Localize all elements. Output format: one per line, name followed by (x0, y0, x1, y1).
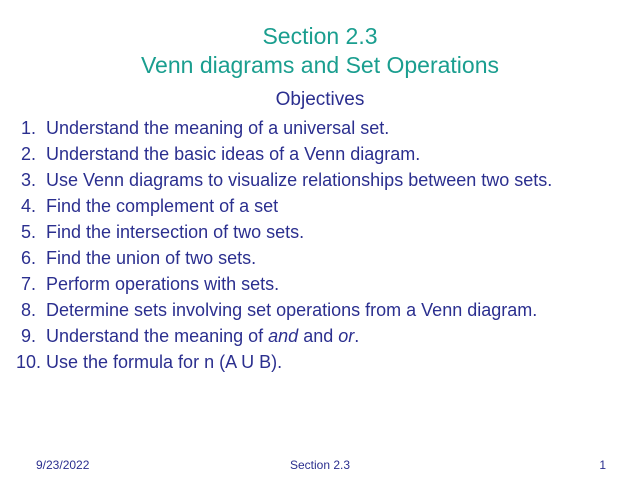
objectives-heading: Objectives (0, 88, 640, 112)
list-item-text: Perform operations with sets. (46, 272, 622, 296)
list-item-number: 9. (16, 324, 46, 348)
list-item: 8. Determine sets involving set operatio… (0, 298, 640, 322)
item9-prefix: Understand the meaning of (46, 326, 268, 346)
list-item: 9. Understand the meaning of and and or. (0, 324, 640, 348)
list-item-text: Find the union of two sets. (46, 246, 622, 270)
list-item-number: 3. (16, 168, 46, 192)
list-item-number: 1. (16, 116, 46, 140)
title-line-1: Section 2.3 (0, 22, 640, 51)
footer-page-number: 1 (599, 458, 606, 472)
list-item-number: 7. (16, 272, 46, 296)
list-item: 6. Find the union of two sets. (0, 246, 640, 270)
list-item-text: Understand the basic ideas of a Venn dia… (46, 142, 622, 166)
list-item: 2. Understand the basic ideas of a Venn … (0, 142, 640, 166)
list-item-number: 4. (16, 194, 46, 218)
list-item-text: Find the complement of a set (46, 194, 622, 218)
list-item-number: 6. (16, 246, 46, 270)
slide-footer: 9/23/2022 Section 2.3 1 (0, 458, 640, 474)
list-item-text: Determine sets involving set operations … (46, 298, 622, 322)
slide-title: Section 2.3 Venn diagrams and Set Operat… (0, 0, 640, 80)
item9-italic-and: and (268, 326, 298, 346)
item9-middle: and (298, 326, 338, 346)
list-item: 3. Use Venn diagrams to visualize relati… (0, 168, 640, 192)
item9-suffix: . (354, 326, 359, 346)
list-item-text: Understand the meaning of a universal se… (46, 116, 622, 140)
list-item-text-italic: Understand the meaning of and and or. (46, 324, 622, 348)
list-item-text: Use Venn diagrams to visualize relations… (46, 168, 622, 192)
list-item-number: 8. (16, 298, 46, 322)
list-item: 10. Use the formula for n (A U B). (0, 350, 640, 374)
list-item-text: Use the formula for n (A U B). (46, 350, 622, 374)
list-item: 4. Find the complement of a set (0, 194, 640, 218)
list-item: 7. Perform operations with sets. (0, 272, 640, 296)
list-item-number: 5. (16, 220, 46, 244)
list-item-number: 10. (16, 350, 46, 374)
slide: Section 2.3 Venn diagrams and Set Operat… (0, 0, 640, 480)
list-item-text: Find the intersection of two sets. (46, 220, 622, 244)
list-item-number: 2. (16, 142, 46, 166)
footer-center-text: Section 2.3 (0, 458, 640, 472)
title-line-2: Venn diagrams and Set Operations (0, 51, 640, 80)
item9-italic-or: or (338, 326, 354, 346)
list-item: 5. Find the intersection of two sets. (0, 220, 640, 244)
objectives-list: 1. Understand the meaning of a universal… (0, 116, 640, 374)
list-item: 1. Understand the meaning of a universal… (0, 116, 640, 140)
